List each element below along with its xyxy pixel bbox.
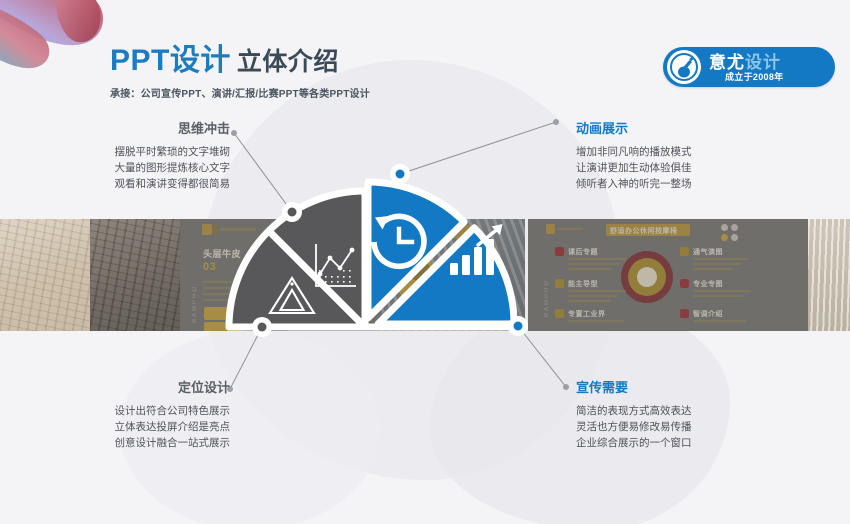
page-title-block: PPT设计立体介绍 承接：公司宣传PPT、演讲/汇报/比赛PPT等各类PPT设计 (110, 46, 370, 100)
band-wood-texture-dark (90, 219, 180, 331)
logo-established: 成立于2008年 (725, 73, 783, 82)
connector-endpoint-thinking-impact (231, 130, 237, 136)
callout-promotion-need: 宣传需要 简洁的表现方式高效表达 灵活也方便易修改易传播 企业综合展示的一个窗口 (576, 381, 761, 451)
logo-name: 意尤设计 (709, 54, 781, 71)
logo-name-strong: 意尤 (709, 53, 745, 72)
mouse-pen-icon (667, 50, 701, 84)
band-right-photo (808, 219, 850, 331)
callout-description: 简洁的表现方式高效表达 灵活也方便易修改易传播 企业综合展示的一个窗口 (576, 403, 761, 451)
callout-title: 宣传需要 (576, 381, 761, 394)
background-photo-band: 舒适办公休闲按摩椅 头层牛皮 03 BAMPRO 舒适办公休 (0, 219, 850, 331)
callout-title: 思维冲击 (55, 122, 230, 135)
brand-logo[interactable]: 意尤设计 成立于2008年 (663, 47, 835, 87)
slide-canvas: 舒适办公休闲按摩椅 头层牛皮 03 BAMPRO 舒适办公休 (0, 0, 850, 524)
callout-animation-display: 动画展示 增加非同凡响的播放模式 让演讲更加生动体验俱佳 倾听者入神的听完一整场 (576, 122, 761, 192)
slide-preview-left: 舒适办公休闲按摩椅 头层牛皮 03 BAMPRO (180, 219, 525, 331)
title-sub: 立体介绍 (237, 48, 339, 76)
callout-description: 设计出符合公司特色展示 立体表达投屏介绍是亮点 创意设计融合一站式展示 (50, 403, 230, 451)
callout-description: 增加非同凡响的播放模式 让演讲更加生动体验俱佳 倾听者入神的听完一整场 (576, 144, 761, 192)
page-tagline: 承接：公司宣传PPT、演讲/汇报/比赛PPT等各类PPT设计 (110, 85, 370, 100)
callout-title: 定位设计 (50, 381, 230, 394)
band-wood-texture-light (0, 219, 90, 331)
title-main: PPT设计 (110, 44, 231, 77)
page-title: PPT设计立体介绍 (110, 46, 370, 76)
callout-positioning-design: 定位设计 设计出符合公司特色展示 立体表达投屏介绍是亮点 创意设计融合一站式展示 (50, 381, 230, 451)
callout-title: 动画展示 (576, 122, 761, 135)
callout-description: 摆脱平时繁琐的文字堆砌 大量的图形提炼核心文字 观看和演讲变得都很简易 (55, 144, 230, 192)
callout-thinking-impact: 思维冲击 摆脱平时繁琐的文字堆砌 大量的图形提炼核心文字 观看和演讲变得都很简易 (55, 122, 230, 192)
slide-preview-right: 舒适办公休闲按摩椅 课后专题 能主导型 (528, 219, 808, 331)
logo-name-light: 设计 (745, 53, 781, 72)
